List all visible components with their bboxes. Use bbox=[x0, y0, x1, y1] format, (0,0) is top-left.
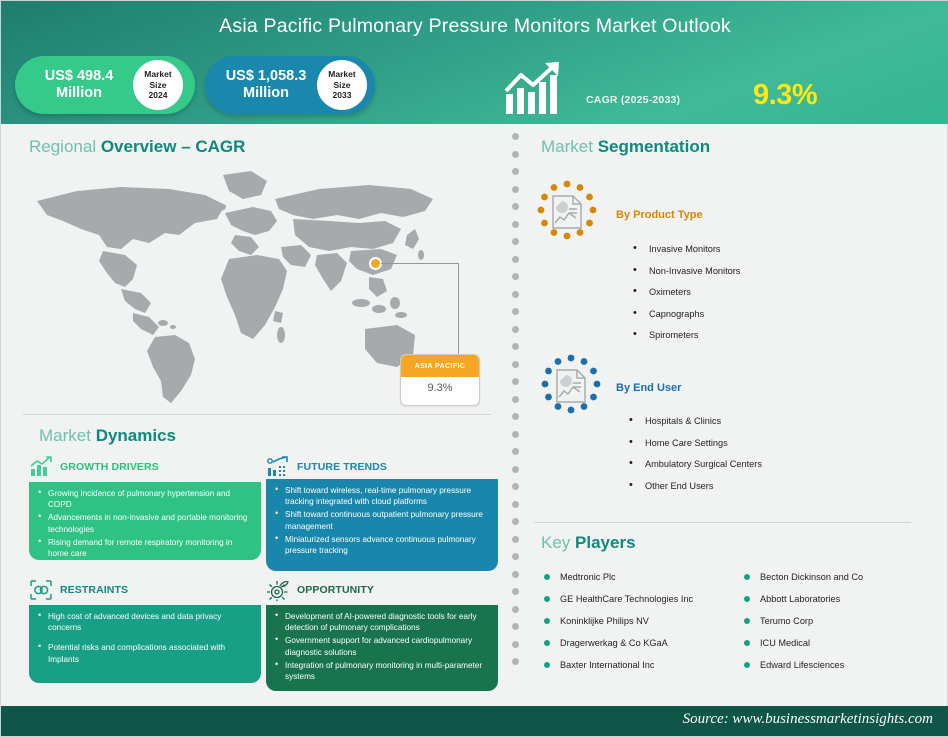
market-size-2033-bubble: Market Size 2033 bbox=[317, 60, 367, 110]
key-players-column-left: Medtronic Plc GE HealthCare Technologies… bbox=[528, 571, 723, 681]
list-item: Oximeters bbox=[633, 287, 740, 297]
key-players-heading: Key Players bbox=[541, 533, 636, 553]
card-bullet-list: Development of AI-powered diagnostic too… bbox=[274, 611, 490, 682]
market-size-2033-badge: US$ 1,058.3 Million Market Size 2033 bbox=[205, 56, 375, 114]
list-item: Ambulatory Surgical Centers bbox=[629, 459, 762, 469]
callout-region-label: ASIA PACIFIC bbox=[401, 355, 479, 377]
segmentation-label-by-product-type: By Product Type bbox=[616, 209, 703, 221]
gear-plant-icon bbox=[266, 579, 290, 601]
card-bullet-list: Shift toward wireless, real-time pulmona… bbox=[274, 485, 490, 556]
vertical-dotted-divider bbox=[509, 133, 521, 701]
list-item: Rising demand for remote respiratory mon… bbox=[37, 537, 253, 559]
left-panel-divider bbox=[23, 414, 491, 415]
list-item: High cost of advanced devices and data p… bbox=[37, 611, 253, 633]
list-item: Dragerwerkag & Co KGaA bbox=[528, 637, 723, 649]
dynamics-card-growth-drivers: GROWTH DRIVERS Growing incidence of pulm… bbox=[29, 456, 261, 560]
list-item: Home Care Settings bbox=[629, 438, 762, 448]
growth-chart-icon bbox=[504, 61, 566, 117]
card-header: RESTRAINTS bbox=[29, 579, 261, 601]
list-item: ICU Medical bbox=[728, 637, 928, 649]
cagr-label: CAGR (2025-2033) bbox=[586, 94, 680, 106]
list-item: Growing incidence of pulmonary hypertens… bbox=[37, 488, 253, 510]
list-item: GE HealthCare Technologies Inc bbox=[528, 593, 723, 605]
card-title: RESTRAINTS bbox=[60, 584, 128, 596]
segmentation-list-by-product-type: Invasive Monitors Non-Invasive Monitors … bbox=[633, 244, 740, 352]
callout-cagr-value: 9.3% bbox=[401, 377, 479, 394]
dynamics-card-future-trends: FUTURE TRENDS Shift toward wireless, rea… bbox=[266, 456, 498, 571]
list-item: Medtronic Plc bbox=[528, 571, 723, 583]
asia-pacific-callout: ASIA PACIFIC 9.3% bbox=[400, 354, 480, 406]
list-item: Becton Dickinson and Co bbox=[728, 571, 928, 583]
list-item: Capnographs bbox=[633, 309, 740, 319]
market-dynamics-heading: Market Dynamics bbox=[39, 426, 176, 446]
list-item: Government support for advanced cardiopu… bbox=[274, 635, 490, 657]
card-bullet-list: Growing incidence of pulmonary hypertens… bbox=[37, 488, 253, 559]
dynamics-card-restraints: RESTRAINTS High cost of advanced devices… bbox=[29, 579, 261, 683]
market-segmentation-heading: Market Segmentation bbox=[541, 137, 710, 157]
card-body: Shift toward wireless, real-time pulmona… bbox=[266, 479, 498, 571]
card-bullet-list: High cost of advanced devices and data p… bbox=[37, 611, 253, 665]
list-item: Invasive Monitors bbox=[633, 244, 740, 254]
page-title: Asia Pacific Pulmonary Pressure Monitors… bbox=[1, 15, 948, 38]
list-item: Baxter International Inc bbox=[528, 659, 723, 671]
key-players-column-right: Becton Dickinson and Co Abbott Laborator… bbox=[728, 571, 928, 681]
card-body: Development of AI-powered diagnostic too… bbox=[266, 605, 498, 691]
card-header: GROWTH DRIVERS bbox=[29, 456, 261, 478]
report-document-icon-product bbox=[535, 179, 599, 243]
card-title: FUTURE TRENDS bbox=[297, 461, 387, 473]
list-item: Non-Invasive Monitors bbox=[633, 266, 740, 276]
chain-link-icon bbox=[29, 579, 53, 601]
list-item: Other End Users bbox=[629, 481, 762, 491]
regional-overview-heading: Regional Overview – CAGR bbox=[29, 137, 245, 157]
segmentation-label-by-end-user: By End User bbox=[616, 382, 681, 394]
right-panel-divider bbox=[534, 522, 911, 523]
list-item: Spirometers bbox=[633, 330, 740, 340]
list-item: Hospitals & Clinics bbox=[629, 416, 762, 426]
header-banner: Asia Pacific Pulmonary Pressure Monitors… bbox=[1, 1, 948, 124]
market-size-2033-value: US$ 1,058.3 Million bbox=[205, 68, 317, 102]
footer-bar: Source: www.businessmarketinsights.com bbox=[1, 706, 948, 736]
market-size-2024-value: US$ 498.4 Million bbox=[15, 68, 133, 102]
market-size-2024-badge: US$ 498.4 Million Market Size 2024 bbox=[15, 56, 195, 114]
dynamics-card-opportunity: OPPORTUNITY Development of AI-powered di… bbox=[266, 579, 498, 691]
source-text: Source: www.businessmarketinsights.com bbox=[683, 711, 933, 728]
infographic-canvas: Asia Pacific Pulmonary Pressure Monitors… bbox=[0, 0, 948, 737]
cagr-value: 9.3% bbox=[753, 79, 817, 112]
card-body: High cost of advanced devices and data p… bbox=[29, 605, 261, 683]
report-document-icon-end-user bbox=[539, 353, 603, 417]
card-body: Growing incidence of pulmonary hypertens… bbox=[29, 482, 261, 560]
card-header: OPPORTUNITY bbox=[266, 579, 498, 601]
list-item: Koninklijke Philips NV bbox=[528, 615, 723, 627]
list-item: Shift toward continuous outpatient pulmo… bbox=[274, 509, 490, 531]
segmentation-list-by-end-user: Hospitals & Clinics Home Care Settings A… bbox=[629, 416, 762, 502]
list-item: Terumo Corp bbox=[728, 615, 928, 627]
market-size-2024-bubble: Market Size 2024 bbox=[133, 60, 183, 110]
card-title: GROWTH DRIVERS bbox=[60, 461, 159, 473]
list-item: Edward Lifesciences bbox=[728, 659, 928, 671]
card-title: OPPORTUNITY bbox=[297, 584, 374, 596]
list-item: Miniaturized sensors advance continuous … bbox=[274, 534, 490, 556]
list-item: Development of AI-powered diagnostic too… bbox=[274, 611, 490, 633]
list-item: Integration of pulmonary monitoring in m… bbox=[274, 660, 490, 682]
list-item: Advancements in non-invasive and portabl… bbox=[37, 512, 253, 534]
list-item: Abbott Laboratories bbox=[728, 593, 928, 605]
list-item: Potential risks and complications associ… bbox=[37, 642, 253, 664]
list-item: Shift toward wireless, real-time pulmona… bbox=[274, 485, 490, 507]
card-header: FUTURE TRENDS bbox=[266, 456, 498, 478]
growth-bar-chart-icon bbox=[29, 456, 53, 478]
trend-analytics-icon bbox=[266, 456, 290, 478]
callout-leader-horizontal bbox=[381, 263, 459, 264]
